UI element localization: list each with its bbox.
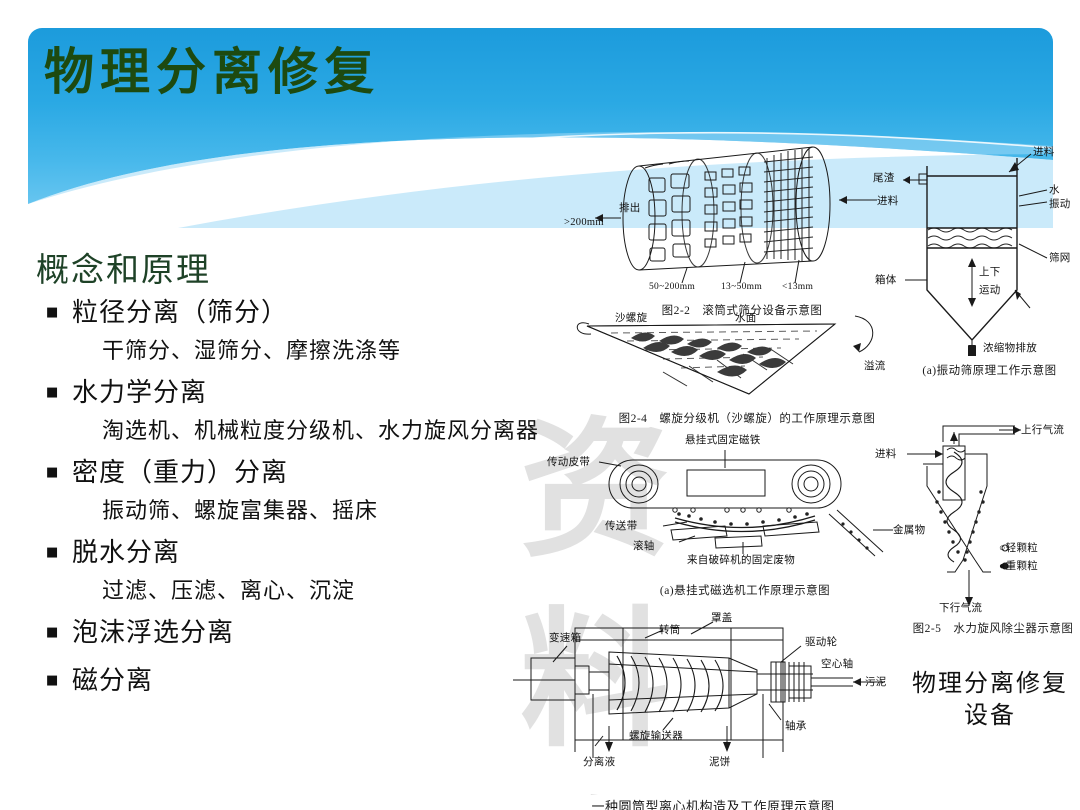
figure-label: 传动皮带 <box>547 454 590 469</box>
figure-label: 水面 <box>735 310 757 325</box>
figure-label: >200mm <box>564 217 604 228</box>
bullet-list: ■ 粒径分离（筛分） 干筛分、湿筛分、摩擦洗涤等 ■ 水力学分离 淘选机、机械粒… <box>46 296 576 700</box>
list-item[interactable]: ■ 磁分离 <box>46 664 576 698</box>
magnetic-separator-drawing <box>575 426 915 572</box>
figure-caption: (a)振动筛原理工作示意图 <box>897 362 1080 378</box>
vibrating-screen-drawing <box>897 140 1080 358</box>
bullet-marker-icon: ■ <box>46 536 72 570</box>
figure-label: 悬挂式固定磁铁 <box>685 432 761 447</box>
figure-label: ○轻颗粒 <box>999 540 1038 555</box>
figure-label: 空心轴 <box>821 656 853 671</box>
figure-label: 来自破碎机的固定废物 <box>687 552 795 567</box>
centrifuge-drawing <box>513 600 913 778</box>
figure-label: 驱动轮 <box>805 634 837 649</box>
figure-label: 进料 <box>875 446 897 461</box>
bullet-text: 粒径分离（筛分） <box>72 296 288 330</box>
figure-label: 上下 <box>979 264 1001 279</box>
figure-label: 传送带 <box>605 518 637 533</box>
figure-vibrating-screen: 进料 水 振动 筛网 尾渣 箱体 上下 运动 浓缩物排放 (a)振动筛原理工作示… <box>897 140 1080 380</box>
slide-canvas: 物理分离修复 概念和原理 ■ 粒径分离（筛分） 干筛分、湿筛分、摩擦洗涤等 ■ … <box>0 0 1080 810</box>
bullet-marker-icon: ■ <box>46 616 72 650</box>
figure-label: 13~50mm <box>721 282 762 292</box>
bullet-marker-icon: ■ <box>46 664 72 698</box>
bullet-text: 水力学分离 <box>72 376 207 410</box>
figure-label: 螺旋输送器 <box>629 728 683 743</box>
figure-label: 浓缩物排放 <box>983 340 1037 355</box>
figure-caption: 图2-5 水力旋风除尘器示意图 <box>903 620 1080 636</box>
figure-label: 溢流 <box>864 358 886 373</box>
figure-label: 分离液 <box>583 754 615 769</box>
figure-label: 变速箱 <box>549 630 581 645</box>
figure-label: ●重颗粒 <box>999 558 1038 573</box>
list-item[interactable]: ■ 水力学分离 <box>46 376 576 410</box>
figure-caption: (a)悬挂式磁选机工作原理示意图 <box>575 582 915 598</box>
figure-label: <13mm <box>782 282 813 292</box>
figure-label: 上行气流 <box>1021 422 1064 437</box>
figure-label: 泥饼 <box>709 754 731 769</box>
list-item[interactable]: ■ 泡沫浮选分离 <box>46 616 576 650</box>
figure-label: 尾渣 <box>873 170 895 185</box>
equipment-caption: 物理分离修复设备 <box>905 668 1075 732</box>
hydrocyclone-drawing <box>903 420 1080 616</box>
bullet-marker-icon: ■ <box>46 376 72 410</box>
section-heading: 概念和原理 <box>36 243 211 291</box>
figure-caption: 一种圆筒型离心机构造及工作原理示意图 <box>513 796 913 810</box>
figure-label: 转筒 <box>659 622 681 637</box>
figure-label: 滚轴 <box>633 538 655 553</box>
page-title: 物理分离修复 <box>44 44 684 100</box>
figure-magnetic-separator: 悬挂式固定磁铁 传动皮带 传送带 滚轴 来自破碎机的固定废物 金属物 (a)悬挂… <box>575 426 915 594</box>
figure-label: 筛网 <box>1049 250 1071 265</box>
figure-label: 水 <box>1049 182 1060 197</box>
figure-label: 进料 <box>877 193 899 208</box>
figure-trommel-screen: 排出 >200mm 进料 50~200mm 13~50mm <13mm 图2-2… <box>577 138 907 310</box>
figure-label: 进料 <box>1033 144 1055 159</box>
figure-label: 下行气流 <box>939 600 982 615</box>
figure-centrifuge: 变速箱 转筒 罩盖 驱动轮 空心轴 污泥 轴承 螺旋输送器 分离液 泥饼 一种圆… <box>513 600 913 810</box>
list-item[interactable]: ■ 粒径分离（筛分） <box>46 296 576 330</box>
figure-label: 罩盖 <box>711 610 733 625</box>
list-item[interactable]: ■ 密度（重力）分离 <box>46 456 576 490</box>
bullet-text: 密度（重力）分离 <box>72 456 288 490</box>
figure-label: 50~200mm <box>649 282 695 292</box>
bullet-marker-icon: ■ <box>46 456 72 490</box>
figure-label: 运动 <box>979 282 1001 297</box>
list-item[interactable]: ■ 脱水分离 <box>46 536 576 570</box>
bullet-text: 磁分离 <box>72 664 153 698</box>
bullet-marker-icon: ■ <box>46 296 72 330</box>
figure-spiral-classifier: 沙螺旋 水面 溢流 图2-4 螺旋分级机（沙螺旋）的工作原理示意图 <box>567 308 927 428</box>
figure-label: 排出 <box>619 200 641 215</box>
figure-hydrocyclone: 进料 上行气流 下行气流 ○轻颗粒 ●重颗粒 图2-5 水力旋风除尘器示意图 <box>903 420 1080 635</box>
figure-caption: 图2-4 螺旋分级机（沙螺旋）的工作原理示意图 <box>567 410 927 426</box>
figure-label: 振动 <box>1049 196 1071 211</box>
figure-label: 沙螺旋 <box>615 310 647 325</box>
bullet-text: 泡沫浮选分离 <box>72 616 234 650</box>
figure-label: 污泥 <box>865 674 887 689</box>
bullet-text: 脱水分离 <box>72 536 180 570</box>
figure-label: 轴承 <box>785 718 807 733</box>
figure-label: 箱体 <box>875 272 897 287</box>
